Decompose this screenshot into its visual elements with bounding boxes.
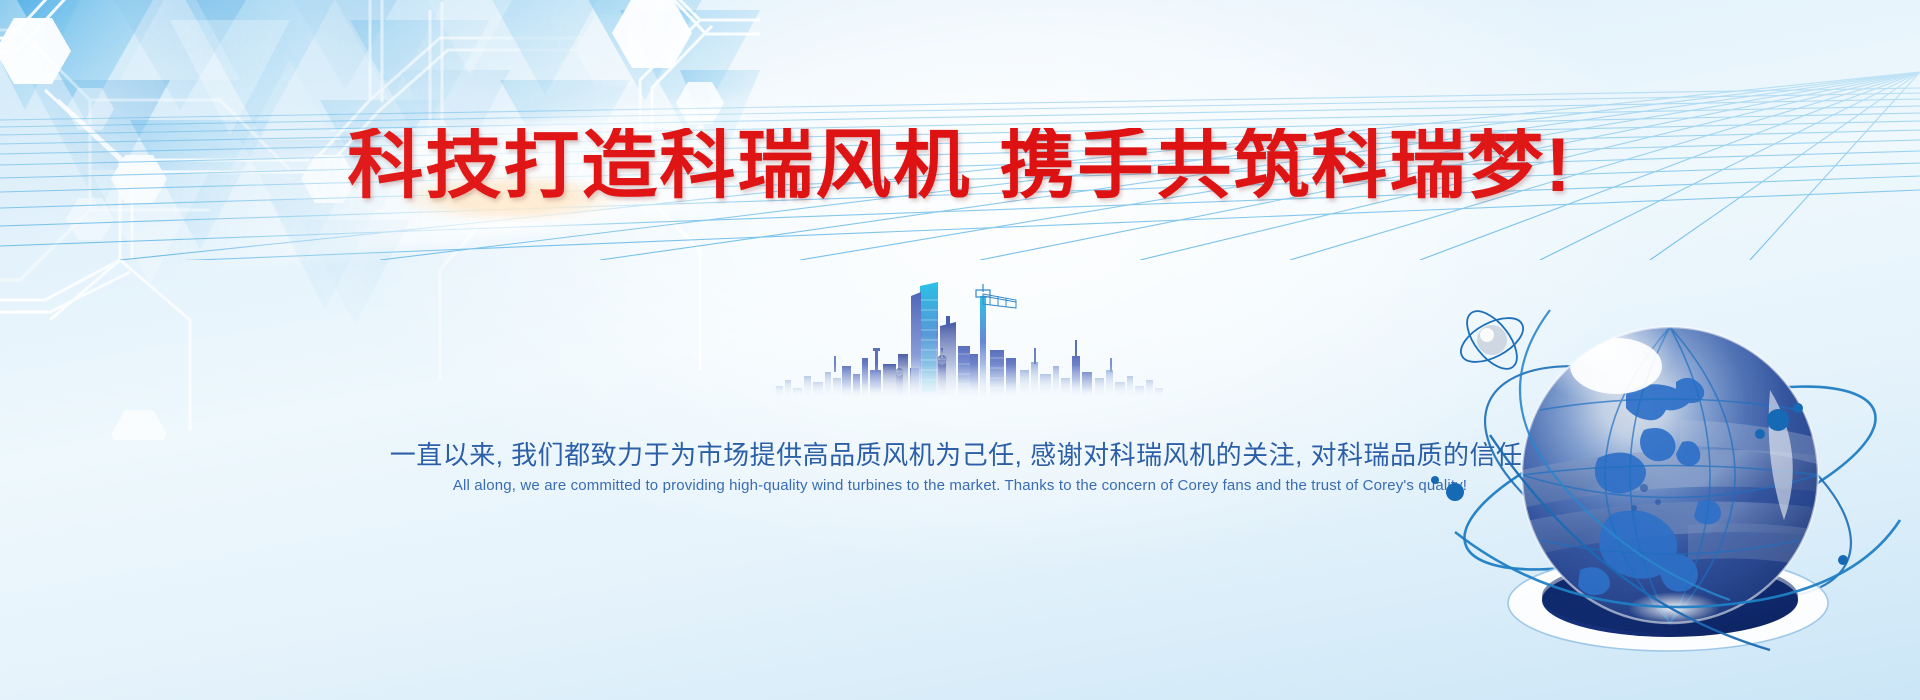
headline-part-1: 科技打造科瑞风机 bbox=[347, 123, 971, 208]
promo-banner: 科技打造科瑞风机携手共筑科瑞梦! bbox=[0, 0, 1920, 700]
city-skyline-illustration bbox=[770, 278, 1170, 398]
globe-illustration bbox=[1430, 270, 1910, 690]
page-title: 科技打造科瑞风机携手共筑科瑞梦! bbox=[0, 128, 1920, 204]
headline-part-2: 携手共筑科瑞梦! bbox=[999, 123, 1572, 208]
atom-node-icon bbox=[1454, 303, 1530, 378]
